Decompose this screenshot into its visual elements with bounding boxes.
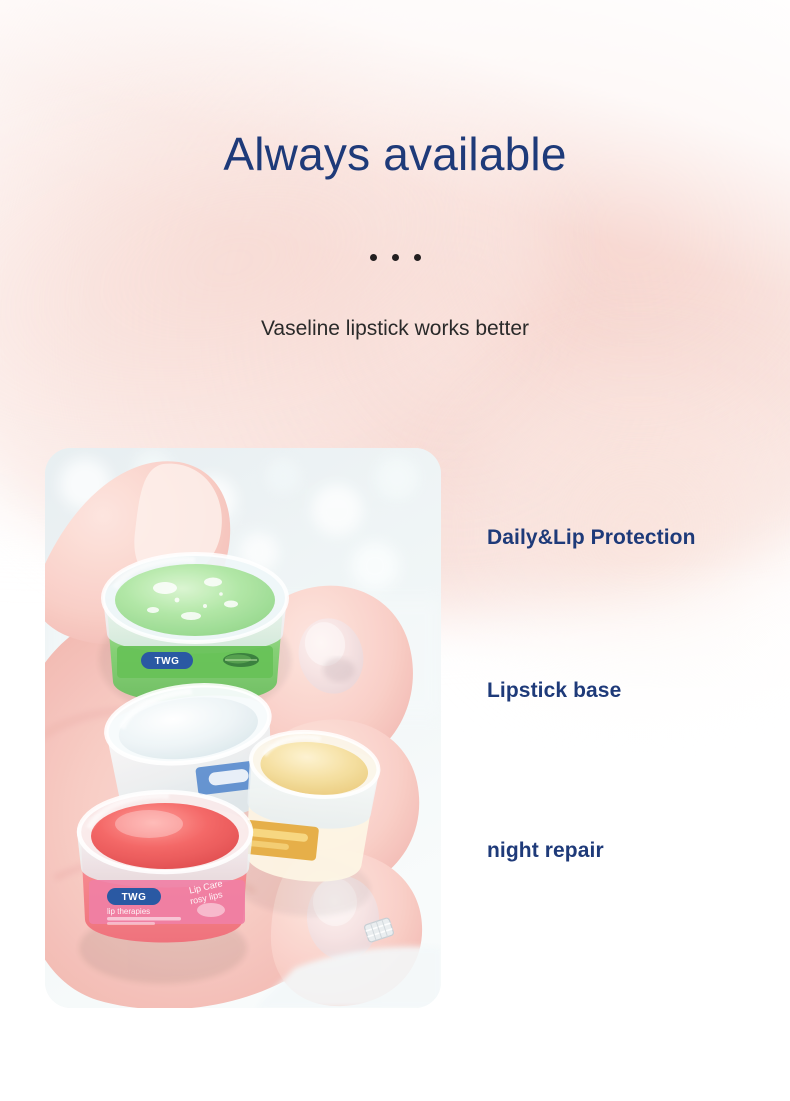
product-detail-page: Always available Vaseline lipstick works… <box>0 0 790 1101</box>
divider-dot-icon <box>392 254 399 261</box>
divider-dot-icon <box>370 254 377 261</box>
feature-label-night-repair: night repair <box>487 840 604 861</box>
product-photo: TWG <box>45 448 441 1008</box>
dot-divider <box>0 254 790 261</box>
feature-label-daily-lip-protection: Daily&Lip Protection <box>487 527 696 548</box>
white-fade-top <box>0 0 790 430</box>
page-title: Always available <box>0 131 790 177</box>
product-photo-illustration: TWG <box>45 448 441 1008</box>
divider-dot-icon <box>414 254 421 261</box>
page-subtitle: Vaseline lipstick works better <box>0 316 790 341</box>
feature-label-lipstick-base: Lipstick base <box>487 680 621 701</box>
